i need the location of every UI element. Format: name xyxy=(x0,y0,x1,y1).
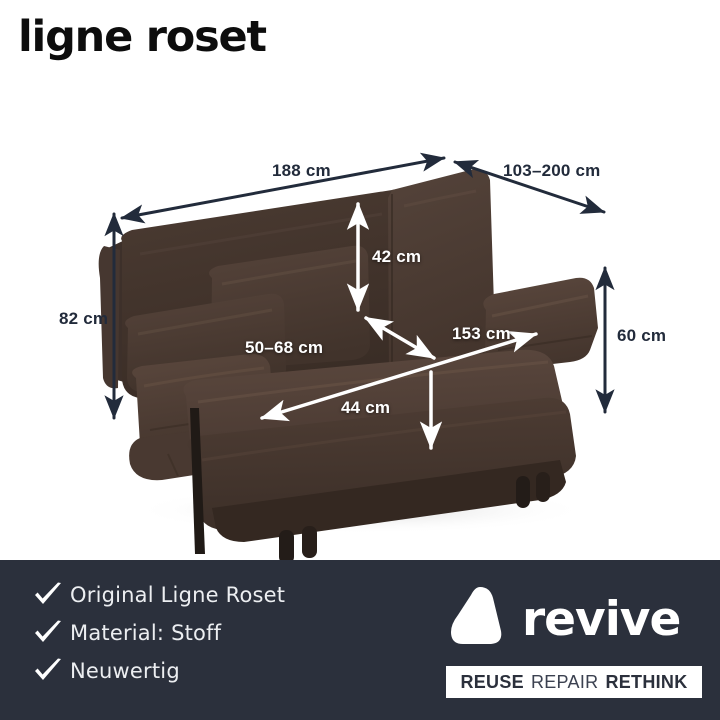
check-icon xyxy=(26,620,70,646)
brand-logo: ligne roset xyxy=(18,16,266,59)
feature-label: Original Ligne Roset xyxy=(70,583,285,607)
feature-label: Neuwertig xyxy=(70,659,180,683)
dimension-label-seat-height: 44 cm xyxy=(341,398,390,418)
dimension-label-seat-depth: 50–68 cm xyxy=(245,338,323,358)
revive-wordmark: revive xyxy=(522,596,680,643)
tagline-word-reuse: REUSE xyxy=(460,672,524,693)
list-item: Neuwertig xyxy=(26,652,285,690)
dimension-label-arm-height: 60 cm xyxy=(617,326,666,346)
info-banner: Original Ligne Roset Material: Stoff Neu… xyxy=(0,560,720,720)
revive-blob-icon xyxy=(446,584,512,655)
tagline-word-rethink: RETHINK xyxy=(605,672,687,693)
feature-label: Material: Stoff xyxy=(70,621,221,645)
dimension-label-back-height: 42 cm xyxy=(372,247,421,267)
check-icon xyxy=(26,658,70,684)
dimension-label-depth: 103–200 cm xyxy=(503,161,600,181)
feature-list: Original Ligne Roset Material: Stoff Neu… xyxy=(26,576,285,690)
product-photo-stage: 188 cm 103–200 cm 82 cm 60 cm 42 cm 50–6… xyxy=(0,78,720,560)
check-icon xyxy=(26,582,70,608)
revive-tagline: REUSE REPAIR RETHINK xyxy=(446,666,702,698)
dimension-label-seat-width: 153 cm xyxy=(452,324,511,344)
list-item: Original Ligne Roset xyxy=(26,576,285,614)
dimension-label-height: 82 cm xyxy=(59,309,108,329)
dimension-label-width: 188 cm xyxy=(272,161,331,181)
revive-logo: revive REUSE REPAIR RETHINK xyxy=(446,584,702,698)
list-item: Material: Stoff xyxy=(26,614,285,652)
product-image-card: ligne roset xyxy=(0,0,720,720)
tagline-word-repair: REPAIR xyxy=(531,672,598,693)
